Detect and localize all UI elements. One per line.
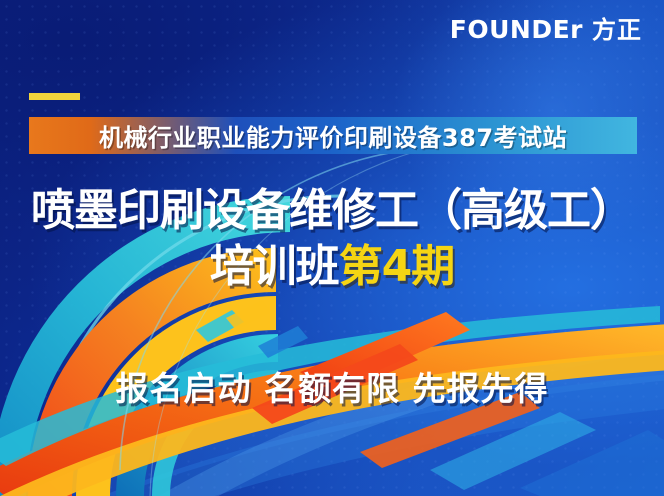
headline-line-2: 培训班第4期 [0, 244, 664, 291]
subtitle-bar: 机械行业职业能力评价印刷设备387考试站 [29, 117, 637, 154]
headline-line-1: 喷墨印刷设备维修工（高级工） [0, 188, 664, 235]
accent-dash [29, 93, 80, 100]
logo-chinese-text: 方正 [592, 18, 642, 42]
subtitle-text: 机械行业职业能力评价印刷设备387考试站 [99, 118, 567, 153]
founder-logo: FOUNDEr 方正 [450, 17, 642, 42]
headline-course-label: 培训班 [210, 241, 339, 292]
headline-block: 喷墨印刷设备维修工（高级工） 培训班第4期 [0, 188, 664, 290]
call-to-action-text: 报名启动 名额有限 先报先得 [0, 362, 664, 410]
promo-poster: FOUNDEr 方正 机械行业职业能力评价印刷设备387考试站 喷墨印刷设备维修… [0, 0, 664, 496]
logo-wordmark: FOUNDEr [450, 17, 583, 42]
headline-session-badge: 第4期 [339, 241, 455, 292]
